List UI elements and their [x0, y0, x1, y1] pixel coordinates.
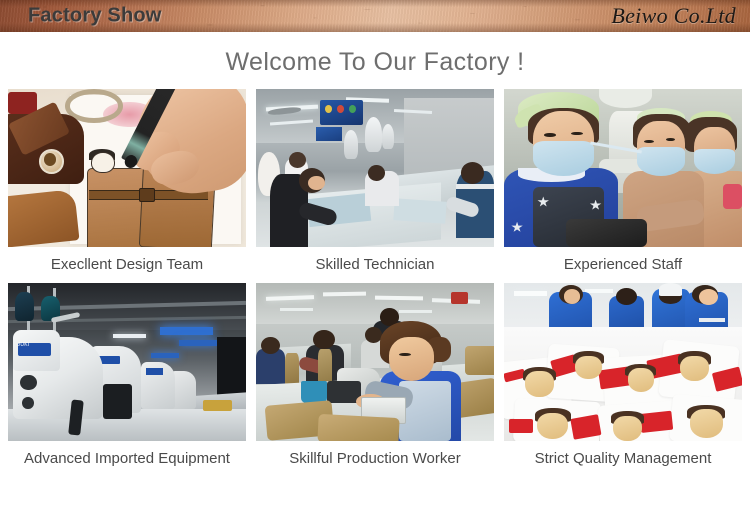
banner-graphic [337, 105, 344, 113]
sketched-belt-buckle [139, 188, 155, 203]
juki-brand-plate [146, 368, 163, 374]
overhead-machine [344, 130, 358, 158]
factory-photo-design-team[interactable] [8, 89, 246, 247]
cartoon-print-face [575, 356, 601, 380]
banner-title: Factory Show [28, 5, 162, 28]
banner-graphic [349, 105, 356, 113]
photo-scene [256, 89, 494, 247]
khaki-garment [317, 414, 399, 441]
gallery-item: Skilled Technician [256, 89, 494, 275]
blue-background-light [179, 340, 217, 346]
worker-head [368, 165, 385, 181]
photo-scene [504, 89, 742, 247]
worker-eye [644, 140, 654, 143]
cartoon-print-face [690, 409, 723, 437]
gallery-item-caption: Experienced Staff [504, 255, 742, 275]
cartoon-print-face [628, 368, 654, 392]
ceiling-light [585, 289, 614, 293]
worker-eye [399, 353, 411, 356]
overhead-machine [365, 117, 382, 152]
wall-sign [451, 292, 468, 303]
factory-photo-production-worker[interactable] [256, 283, 494, 441]
company-brand-name: Beiwo Co.Ltd [611, 3, 736, 29]
yellow-equipment [203, 400, 232, 411]
gallery-item: Execllent Design Team [8, 89, 246, 275]
page-banner: Factory Show Beiwo Co.Ltd [0, 0, 750, 32]
inspector-cap [659, 283, 683, 296]
red-print-graphic [509, 419, 533, 433]
worker-head [261, 337, 280, 354]
worker-head [313, 330, 334, 349]
factory-photo-imported-equipment[interactable]: JUKI [8, 283, 246, 441]
ceiling-light [514, 291, 547, 296]
foreground-worker-face [308, 176, 325, 190]
gallery-item-caption: Strict Quality Management [504, 449, 742, 469]
machine-knob [20, 375, 37, 391]
worker-face-mask [637, 147, 685, 175]
button-center [44, 153, 56, 166]
worker-body [256, 349, 285, 384]
gallery-item: Experienced Staff [504, 89, 742, 275]
thread-cone [15, 292, 34, 320]
gallery-item: Strict Quality Management [504, 283, 742, 469]
foreground-worker-face-mask [533, 141, 595, 176]
ceiling-light [280, 308, 313, 311]
page-title: Welcome To Our Factory ! [0, 32, 750, 77]
gallery-item-caption: Advanced Imported Equipment [8, 449, 246, 469]
factory-photo-quality-management[interactable] [504, 283, 742, 441]
factory-ceiling [256, 283, 494, 324]
overhead-machine [382, 124, 394, 149]
ceiling-light [375, 295, 423, 300]
gallery-item: JUKI Advanced Imported Equipment [8, 283, 246, 469]
banner-graphic [325, 105, 332, 113]
photo-scene [504, 283, 742, 441]
sketched-figure-head [91, 152, 114, 173]
foreground-worker-face [389, 337, 434, 381]
gallery-item: Skillful Production Worker [256, 283, 494, 469]
cartoon-print-face [613, 416, 642, 441]
factory-photo-experienced-staff[interactable] [504, 89, 742, 247]
gallery-item-caption: Skilled Technician [256, 255, 494, 275]
photo-scene [256, 283, 494, 441]
worker-shirt-stripe [456, 184, 494, 189]
photo-scene: JUKI [8, 283, 246, 441]
thread-cone [318, 349, 332, 384]
fabric-scrap [723, 184, 742, 209]
inspector-face [564, 289, 581, 303]
wall-banner-secondary [316, 127, 342, 141]
factory-photo-skilled-technician[interactable] [256, 89, 494, 247]
black-leather-piece [566, 219, 647, 247]
fluorescent-light [113, 334, 146, 339]
gallery-item-caption: Execllent Design Team [8, 255, 246, 275]
uniform-cuff [699, 318, 725, 323]
gallery-item-caption: Skillful Production Worker [256, 449, 494, 469]
fabric-on-table [393, 198, 447, 224]
juki-brand-plate: JUKI [18, 343, 51, 356]
khaki-garment [465, 346, 494, 374]
red-print-graphic [640, 411, 673, 433]
cartoon-print-face [680, 356, 709, 381]
photo-scene [8, 89, 246, 247]
blue-background-light [151, 353, 180, 358]
tan-leather-swatch [8, 189, 79, 247]
factory-photo-grid: Execllent Design Team [8, 89, 742, 469]
machine-motor [103, 384, 132, 419]
blue-background-light [160, 327, 212, 335]
worker-head [461, 162, 485, 184]
cartoon-print-face [525, 371, 554, 396]
worker-head [289, 152, 306, 168]
juki-brand-text: JUKI [18, 343, 22, 344]
ceiling-light [399, 310, 432, 313]
